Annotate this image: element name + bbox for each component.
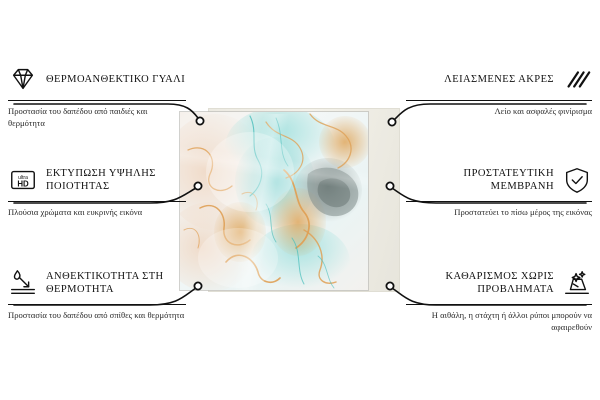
feature-left-2-head: ultra HD ΕΚΤΥΠΩΣΗ ΥΨΗΛΗΣ ΠΟΙΟΤΗΤΑΣ bbox=[8, 163, 186, 197]
feature-left-2: ultra HD ΕΚΤΥΠΩΣΗ ΥΨΗΛΗΣ ΠΟΙΟΤΗΤΑΣ Πλούσ… bbox=[8, 163, 186, 219]
feature-right-1-description: Λείο και ασφαλές φινίρισμα bbox=[406, 106, 592, 118]
shield-check-icon bbox=[562, 165, 592, 195]
feature-right-3-description: Η αιθάλη, η στάχτη ή άλλοι ρύποι μπορούν… bbox=[406, 310, 592, 333]
feature-left-1-head: ΘΕΡΜΟΑΝΘΕΚΤΙΚΟ ΓΥΑΛΙ bbox=[8, 62, 186, 96]
heat-resistance-icon bbox=[8, 268, 38, 298]
feature-left-1-description: Προστασία του δαπέδου από παιδιές και θε… bbox=[8, 106, 186, 129]
feature-right-2-rule bbox=[406, 201, 592, 202]
sponge-sparkle-icon bbox=[562, 268, 592, 298]
ultra-hd-icon-hd-label: HD bbox=[17, 180, 29, 189]
feature-right-2-title: ΠΡΟΣΤΑΤΕΥΤΙΚΗ ΜΕΜΒΡΑΝΗ bbox=[406, 167, 554, 193]
diamond-icon bbox=[8, 64, 38, 94]
connector-dot-left-1 bbox=[196, 117, 203, 124]
feature-left-3-title: ΑΝΘΕΚΤΙΚΟΤΗΤΑ ΣΤΗ ΘΕΡΜΟΤΗΤΑ bbox=[46, 270, 186, 296]
feature-left-1-title: ΘΕΡΜΟΑΝΘΕΚΤΙΚΟ ΓΥΑΛΙ bbox=[46, 73, 185, 86]
feature-right-3: ΚΑΘΑΡΙΣΜΟΣ ΧΩΡΙΣ ΠΡΟΒΛΗΜΑΤΑ Η αιθάλη, η … bbox=[406, 266, 592, 333]
feature-left-3: ΑΝΘΕΚΤΙΚΟΤΗΤΑ ΣΤΗ ΘΕΡΜΟΤΗΤΑ Προστασία το… bbox=[8, 266, 186, 322]
feature-left-3-rule bbox=[8, 304, 186, 305]
feature-right-1-head: ΛΕΙΑΣΜΕΝΕΣ ΑΚΡΕΣ bbox=[406, 62, 592, 96]
connector-dot-right-3 bbox=[386, 282, 393, 289]
feature-right-1: ΛΕΙΑΣΜΕΝΕΣ ΑΚΡΕΣ Λείο και ασφαλές φινίρι… bbox=[406, 62, 592, 118]
connector-dot-right-1 bbox=[388, 118, 395, 125]
feature-right-2: ΠΡΟΣΤΑΤΕΥΤΙΚΗ ΜΕΜΒΡΑΝΗ Προστατεύει το πί… bbox=[406, 163, 592, 219]
feature-left-1: ΘΕΡΜΟΑΝΘΕΚΤΙΚΟ ΓΥΑΛΙ Προστασία του δαπέδ… bbox=[8, 62, 186, 129]
feature-right-3-rule bbox=[406, 304, 592, 305]
connector-dot-left-2 bbox=[194, 182, 201, 189]
connector-dot-right-2 bbox=[386, 182, 393, 189]
connector-dot-left-3 bbox=[194, 282, 201, 289]
feature-right-2-head: ΠΡΟΣΤΑΤΕΥΤΙΚΗ ΜΕΜΒΡΑΝΗ bbox=[406, 163, 592, 197]
feature-right-2-description: Προστατεύει το πίσω μέρος της εικόνας bbox=[406, 207, 592, 219]
feature-left-1-rule bbox=[8, 100, 186, 101]
feature-right-3-head: ΚΑΘΑΡΙΣΜΟΣ ΧΩΡΙΣ ΠΡΟΒΛΗΜΑΤΑ bbox=[406, 266, 592, 300]
feature-left-3-head: ΑΝΘΕΚΤΙΚΟΤΗΤΑ ΣΤΗ ΘΕΡΜΟΤΗΤΑ bbox=[8, 266, 186, 300]
feature-right-1-title: ΛΕΙΑΣΜΕΝΕΣ ΑΚΡΕΣ bbox=[444, 73, 554, 86]
infographic-stage: ΘΕΡΜΟΑΝΘΕΚΤΙΚΟ ΓΥΑΛΙ Προστασία του δαπέδ… bbox=[0, 0, 600, 400]
feature-left-2-description: Πλούσια χρώματα και ευκρινής εικόνα bbox=[8, 207, 186, 219]
feature-right-1-rule bbox=[406, 100, 592, 101]
feature-left-3-description: Προστασία του δαπέδου από σπίθες και θερ… bbox=[8, 310, 186, 322]
polished-edges-icon bbox=[562, 64, 592, 94]
feature-left-2-title: ΕΚΤΥΠΩΣΗ ΥΨΗΛΗΣ ΠΟΙΟΤΗΤΑΣ bbox=[46, 167, 186, 193]
feature-right-3-title: ΚΑΘΑΡΙΣΜΟΣ ΧΩΡΙΣ ΠΡΟΒΛΗΜΑΤΑ bbox=[406, 270, 554, 296]
feature-left-2-rule bbox=[8, 201, 186, 202]
ultra-hd-icon: ultra HD bbox=[8, 165, 38, 195]
